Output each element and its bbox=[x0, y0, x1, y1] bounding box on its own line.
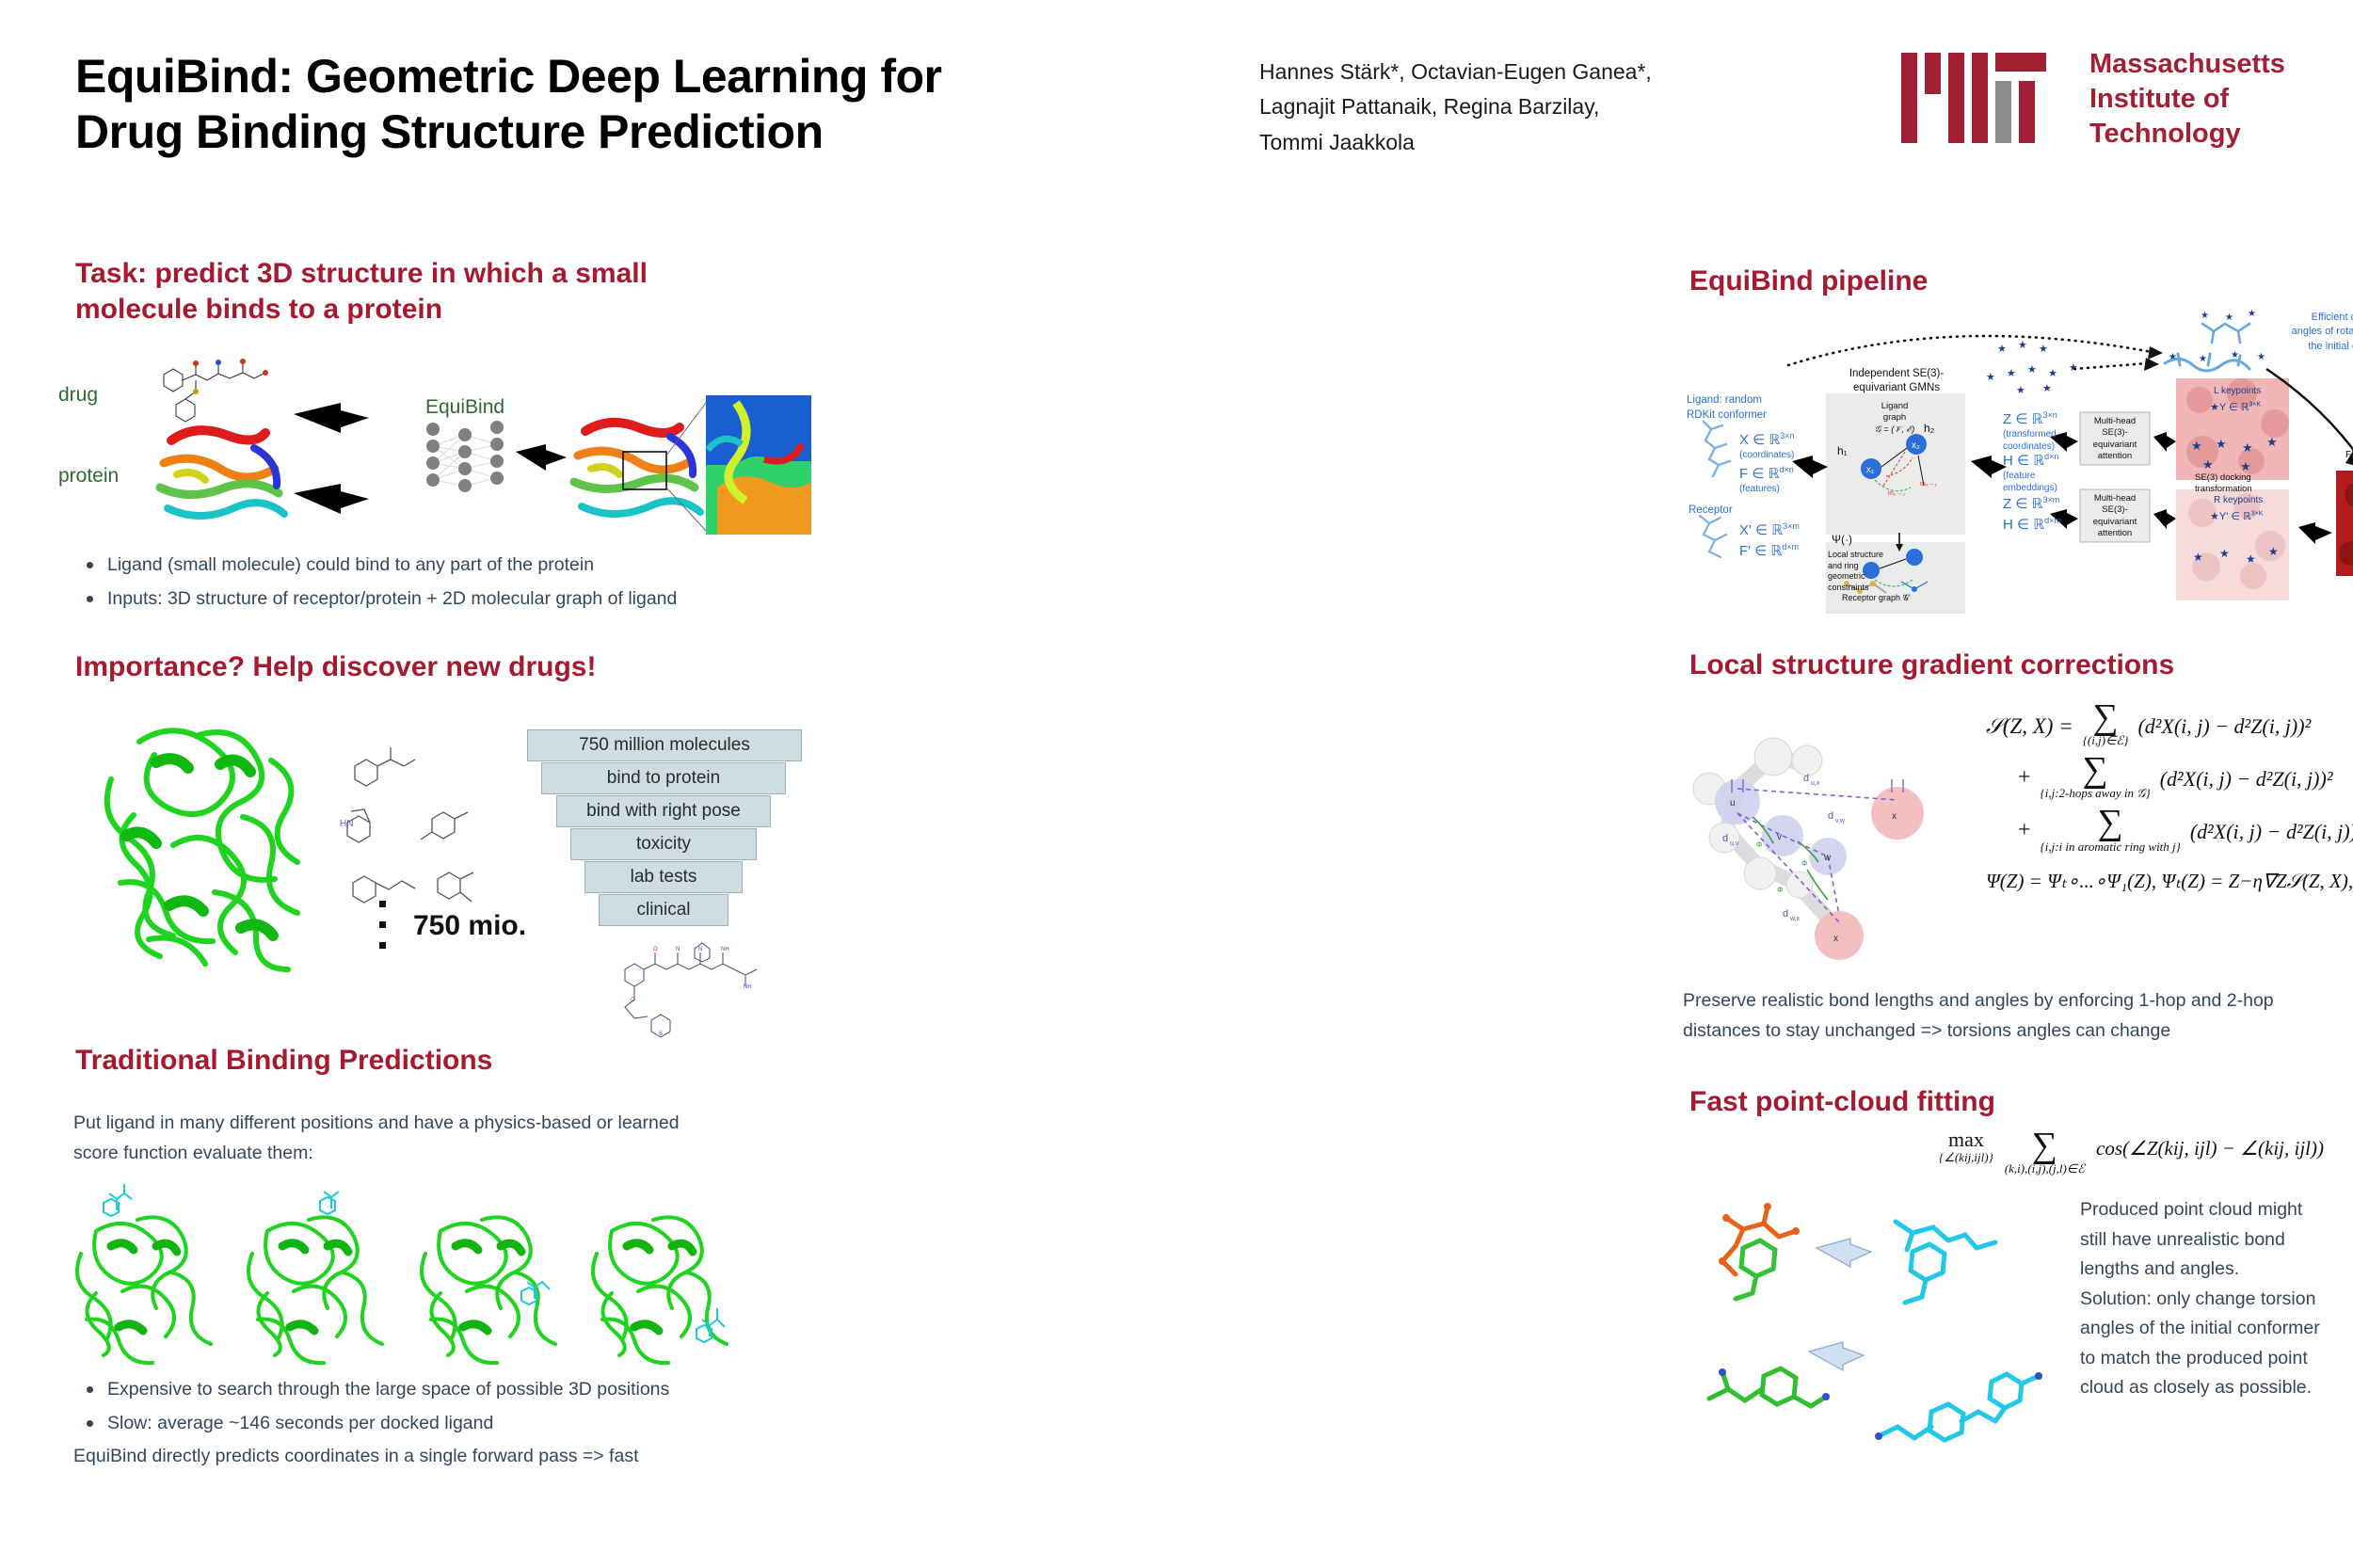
equibind-network-icon bbox=[426, 421, 504, 492]
peptide-molecule-figure: O N N NH NH O S bbox=[602, 941, 772, 1045]
svg-text:N: N bbox=[676, 947, 680, 952]
svg-text:O: O bbox=[631, 998, 635, 1003]
docking-pose-2 bbox=[248, 1192, 382, 1363]
poster-root: EquiBind: Geometric Deep Learning for Dr… bbox=[0, 0, 2353, 1568]
traditional-intro-text: Put ligand in many different positions a… bbox=[73, 1109, 751, 1168]
traditional-closing-text: EquiBind directly predicts coordinates i… bbox=[73, 1442, 817, 1472]
svg-text:N: N bbox=[698, 947, 702, 952]
protein-ribbon-input bbox=[150, 424, 296, 533]
funnel-step: bind with right pose bbox=[556, 795, 771, 827]
task-figure: drug protein EquiBind bbox=[58, 346, 811, 535]
task-heading-line-1: Task: predict 3D structure in which a sm… bbox=[75, 256, 791, 292]
task-label-drug: drug bbox=[58, 384, 98, 407]
list-item: Expensive to search through the large sp… bbox=[75, 1376, 819, 1403]
task-label-protein: protein bbox=[58, 465, 119, 488]
ligand-cyan-2 bbox=[320, 1192, 339, 1214]
svg-text:O: O bbox=[653, 947, 658, 952]
arrow-icon-2 bbox=[294, 484, 369, 514]
molecule-count-label: 750 mio. bbox=[413, 910, 526, 942]
docking-poses-figure bbox=[58, 1188, 802, 1357]
funnel-step: toxicity bbox=[570, 828, 757, 860]
funnel-step: bind to protein bbox=[541, 762, 786, 794]
docking-pose-4 bbox=[593, 1217, 727, 1363]
svg-text:S: S bbox=[659, 1032, 663, 1037]
docking-pose-3 bbox=[422, 1217, 555, 1363]
funnel-step: lab tests bbox=[584, 861, 743, 893]
funnel-step: clinical bbox=[599, 894, 728, 926]
task-label-model: EquiBind bbox=[425, 396, 504, 419]
arrow-icon-1 bbox=[294, 403, 369, 433]
traditional-bullet-list: Expensive to search through the large sp… bbox=[75, 1376, 819, 1445]
section-heading-task: Task: predict 3D structure in which a sm… bbox=[75, 256, 791, 328]
docking-pose-1 bbox=[77, 1184, 211, 1363]
ligand-cyan-1 bbox=[104, 1184, 132, 1216]
traditional-intro-line-2: score function evaluate them: bbox=[73, 1139, 751, 1169]
drug-molecule-sketch bbox=[164, 359, 268, 422]
list-item: Inputs: 3D structure of receptor/protein… bbox=[75, 585, 819, 613]
traditional-intro-line-1: Put ligand in many different positions a… bbox=[73, 1109, 751, 1139]
svg-text:NH: NH bbox=[721, 947, 729, 952]
list-item: Slow: average ~146 seconds per docked li… bbox=[75, 1410, 819, 1437]
vertical-dots-icon bbox=[372, 899, 398, 957]
task-bullet-list: Ligand (small molecule) could bind to an… bbox=[75, 552, 819, 620]
ligand-cyan-4 bbox=[696, 1308, 725, 1342]
svg-text:HN: HN bbox=[340, 819, 353, 829]
column-left: Task: predict 3D structure in which a sm… bbox=[0, 0, 828, 1568]
funnel-step: 750 million molecules bbox=[527, 729, 802, 761]
section-heading-importance: Importance? Help discover new drugs! bbox=[75, 649, 791, 685]
task-heading-line-2: molecule binds to a protein bbox=[75, 292, 791, 328]
peptide-molecule-svg: O N N NH NH O S bbox=[602, 941, 772, 1045]
svg-text:NH: NH bbox=[744, 984, 752, 990]
column-middle: EquiBind pipeline bbox=[828, 0, 1638, 1568]
docking-poses-svg bbox=[58, 1188, 802, 1357]
arrow-icon-3 bbox=[516, 444, 567, 471]
drug-discovery-funnel: 750 million molecules bind to protein bi… bbox=[527, 729, 800, 965]
column-right: Results on PDBBind time-split test set L… bbox=[1638, 0, 2353, 1568]
section-heading-traditional: Traditional Binding Predictions bbox=[75, 1043, 791, 1079]
list-item: Ligand (small molecule) could bind to an… bbox=[75, 552, 819, 579]
task-figure-svg bbox=[58, 346, 811, 535]
